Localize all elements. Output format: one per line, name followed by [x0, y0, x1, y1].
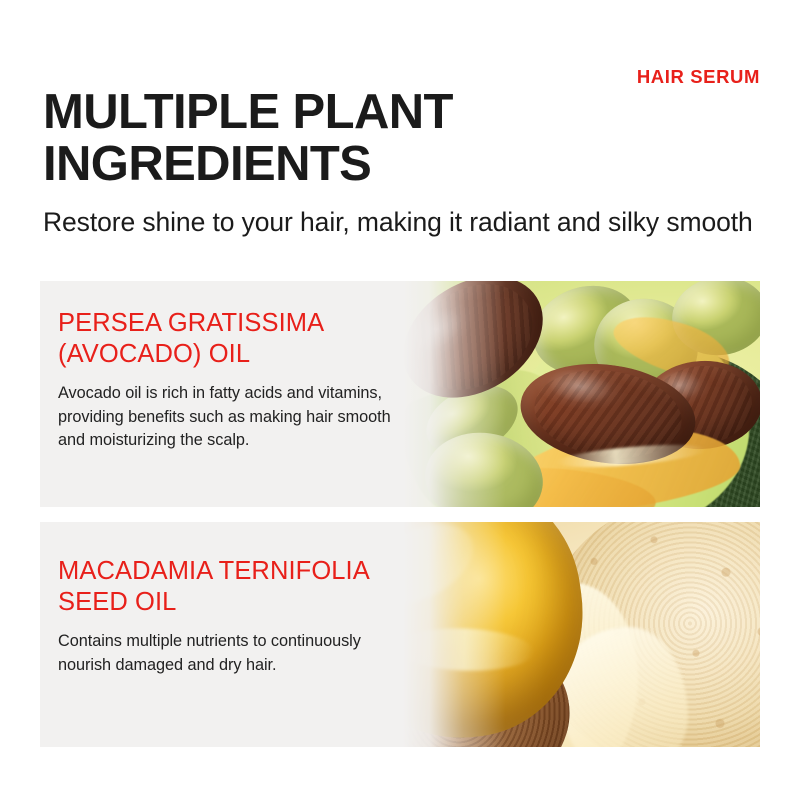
page-title-line-1: MULTIPLE PLANT — [43, 85, 453, 139]
page-title-line-2: INGREDIENTS — [43, 138, 603, 190]
ingredient-card-avocado-text: PERSEA GRATISSIMA (AVOCADO) OIL Avocado … — [58, 281, 428, 452]
page-title: MULTIPLE PLANT INGREDIENTS — [43, 86, 603, 191]
ingredient-card-macadamia-text: MACADAMIA TERNIFOLIA SEED OIL Contains m… — [58, 522, 428, 677]
ingredient-description-avocado: Avocado oil is rich in fatty acids and v… — [58, 382, 398, 452]
ingredient-image-avocado — [380, 281, 760, 507]
ingredient-title-avocado: PERSEA GRATISSIMA (AVOCADO) OIL — [58, 308, 428, 370]
product-category-badge: HAIR SERUM — [637, 66, 760, 88]
page-subtitle: Restore shine to your hair, making it ra… — [43, 205, 758, 239]
ingredient-description-macadamia: Contains multiple nutrients to continuou… — [58, 630, 398, 677]
ingredient-card-macadamia: MACADAMIA TERNIFOLIA SEED OIL Contains m… — [40, 522, 760, 747]
product-feature-page: HAIR SERUM MULTIPLE PLANT INGREDIENTS Re… — [0, 0, 800, 800]
ingredient-image-macadamia — [380, 522, 760, 747]
ingredient-title-macadamia: MACADAMIA TERNIFOLIA SEED OIL — [58, 556, 428, 618]
ingredient-card-avocado: PERSEA GRATISSIMA (AVOCADO) OIL Avocado … — [40, 281, 760, 507]
